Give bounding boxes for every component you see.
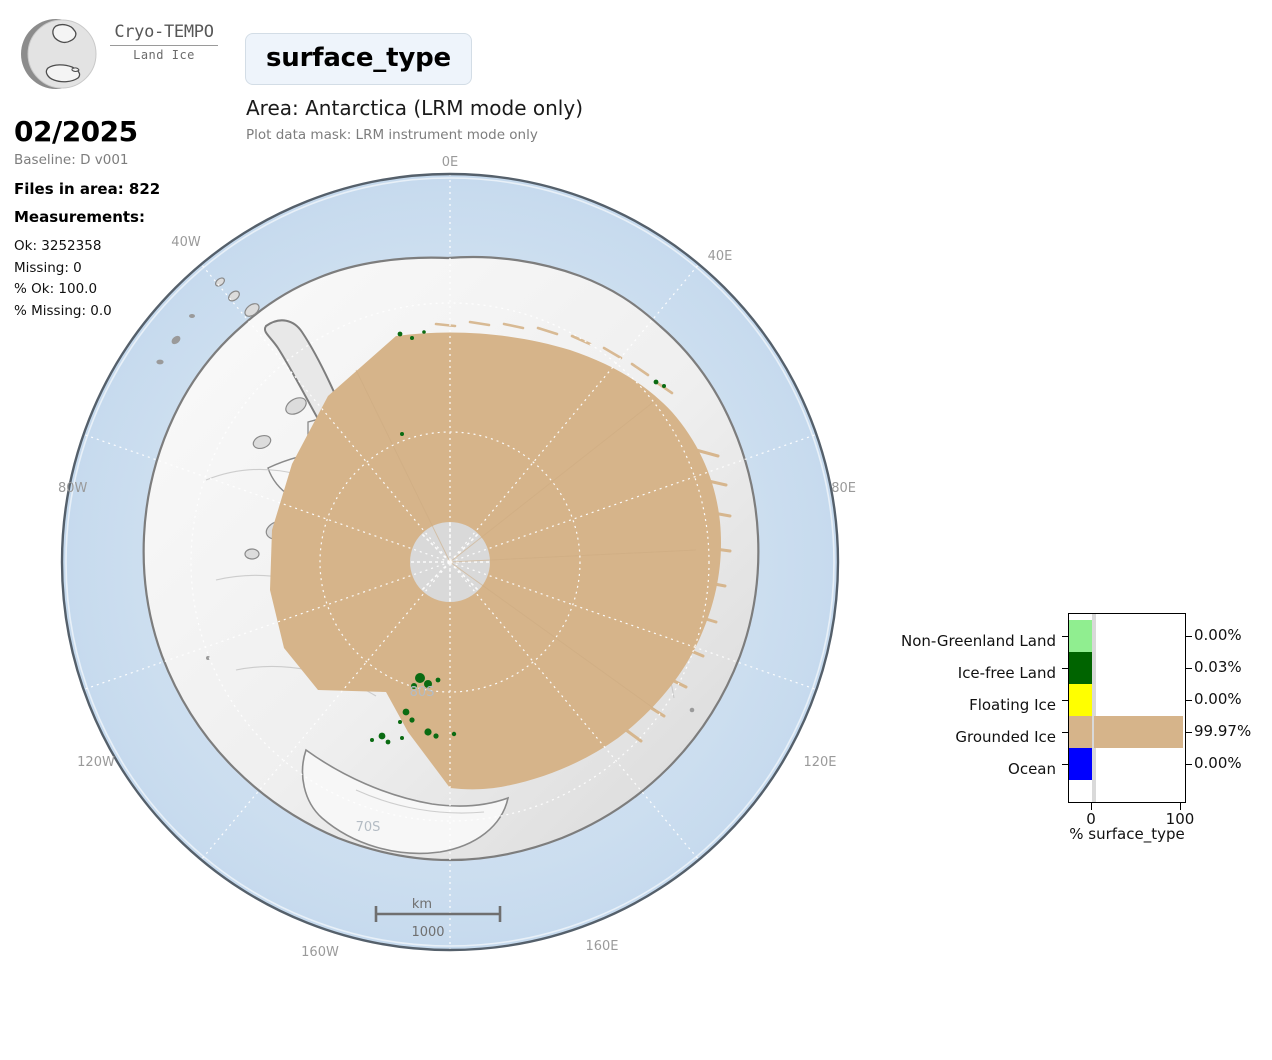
lon-label-80E: 80E xyxy=(831,481,856,496)
legend-x-axis-title: % surface_type xyxy=(1068,825,1186,843)
lon-label-40E: 40E xyxy=(708,249,733,264)
legend-bar xyxy=(1094,716,1183,748)
legend-label: Ocean xyxy=(880,753,1060,785)
legend-color-swatch xyxy=(1069,716,1092,748)
scale-unit-label: km xyxy=(412,897,432,912)
logo-title: Cryo-TEMPO xyxy=(110,22,218,42)
data-mask-subtitle: Plot data mask: LRM instrument mode only xyxy=(246,127,538,143)
y-tick xyxy=(1062,700,1069,701)
x-tick xyxy=(1091,803,1092,810)
legend-value-label: 99.97% xyxy=(1194,715,1251,747)
globe-icon xyxy=(14,14,100,94)
y-tick xyxy=(1062,636,1069,637)
legend-category-labels: Non-Greenland Land Ice-free Land Floatin… xyxy=(880,625,1060,785)
legend-color-swatch xyxy=(1069,652,1092,684)
legend-row xyxy=(1069,684,1187,716)
logo-divider xyxy=(110,45,218,46)
legend-label: Ice-free Land xyxy=(880,657,1060,689)
legend-label: Non-Greenland Land xyxy=(880,625,1060,657)
legend-row xyxy=(1069,748,1187,780)
lon-label-120W: 120W xyxy=(77,755,115,770)
lon-label-160W: 160W xyxy=(301,945,339,960)
y-tick xyxy=(1185,668,1192,669)
y-tick xyxy=(1185,732,1192,733)
legend-label: Grounded Ice xyxy=(880,721,1060,753)
page-title: Area: Antarctica (LRM mode only) xyxy=(246,96,583,120)
legend-color-swatch xyxy=(1069,684,1092,716)
y-tick xyxy=(1062,668,1069,669)
y-tick xyxy=(1185,700,1192,701)
legend-value-label: 0.00% xyxy=(1194,747,1242,779)
y-tick xyxy=(1062,732,1069,733)
legend-value-label: 0.03% xyxy=(1194,651,1242,683)
logo-subtitle: Land Ice xyxy=(110,48,218,62)
y-tick xyxy=(1062,764,1069,765)
map-canvas: 0E 40E 80E 120E 160E 160W 120W 80W 40W 7… xyxy=(56,150,856,980)
lon-label-160E: 160E xyxy=(585,939,618,954)
legend-row xyxy=(1069,620,1187,652)
legend-color-swatch xyxy=(1069,620,1092,652)
lon-label-80W: 80W xyxy=(58,481,88,496)
lat-label-80S: 80S xyxy=(410,685,435,700)
x-tick xyxy=(1180,803,1181,810)
legend-row xyxy=(1069,652,1187,684)
legend-value-label: 0.00% xyxy=(1194,619,1242,651)
scale-value-label: 1000 xyxy=(411,925,444,940)
lon-label-0E: 0E xyxy=(442,155,459,170)
lat-label-70S: 70S xyxy=(356,820,381,835)
surface-type-legend-chart: Non-Greenland Land Ice-free Land Floatin… xyxy=(880,600,1272,860)
legend-value-label: 0.00% xyxy=(1194,683,1242,715)
y-tick xyxy=(1185,636,1192,637)
lon-label-40W: 40W xyxy=(171,235,201,250)
lon-label-120E: 120E xyxy=(803,755,836,770)
y-tick xyxy=(1185,764,1192,765)
date-label: 02/2025 xyxy=(14,115,138,148)
antarctica-map: 0E 40E 80E 120E 160E 160W 120W 80W 40W 7… xyxy=(56,150,856,980)
legend-label: Floating Ice xyxy=(880,689,1060,721)
cryo-tempo-logo: Cryo-TEMPO Land Ice xyxy=(14,14,214,94)
variable-name-badge: surface_type xyxy=(245,33,472,85)
legend-row xyxy=(1069,716,1187,748)
legend-plot-box xyxy=(1068,613,1186,803)
legend-color-swatch xyxy=(1069,748,1092,780)
